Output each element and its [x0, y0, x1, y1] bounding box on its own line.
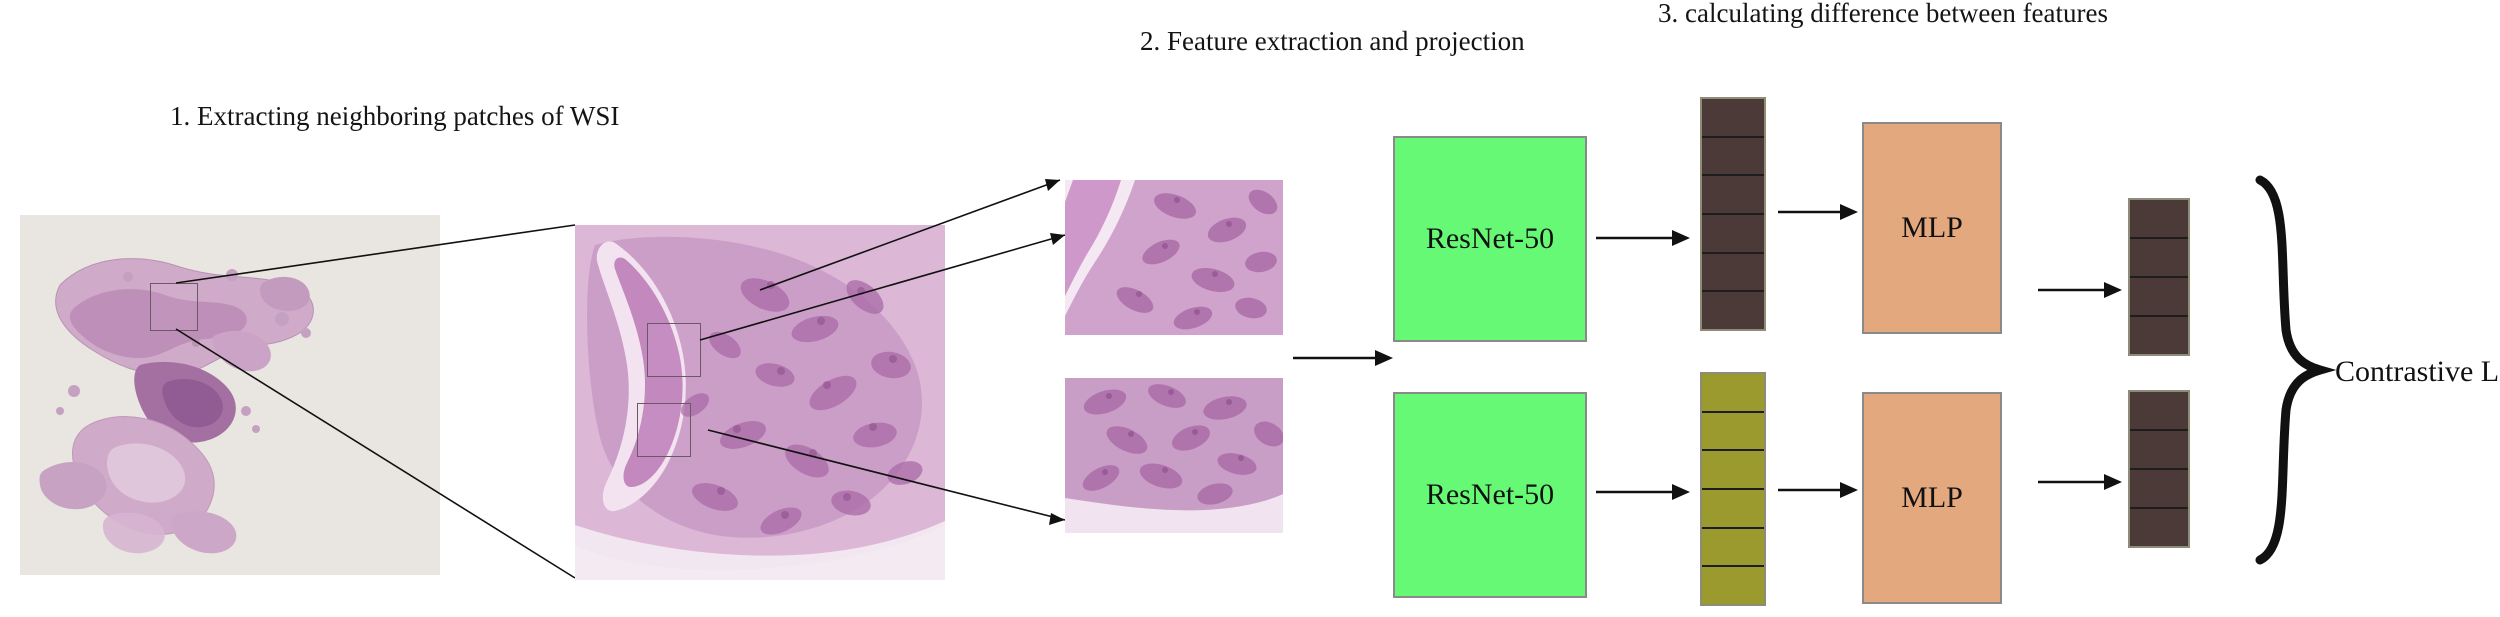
vector-cell	[2130, 239, 2188, 278]
vector-cell	[2130, 509, 2188, 546]
projection-vector-bottom	[2128, 390, 2190, 548]
mlp-to-projection-arrows	[0, 0, 2500, 617]
vector-cell	[2130, 278, 2188, 317]
vector-cell	[2130, 470, 2188, 509]
vector-cell	[2130, 392, 2188, 431]
vector-cell	[2130, 431, 2188, 470]
vector-cell	[2130, 317, 2188, 354]
projection-vector-top	[2128, 198, 2190, 356]
curly-brace	[2230, 170, 2350, 570]
vector-cell	[2130, 200, 2188, 239]
contrastive-loss-label: Contrastive Loss	[2335, 355, 2500, 389]
